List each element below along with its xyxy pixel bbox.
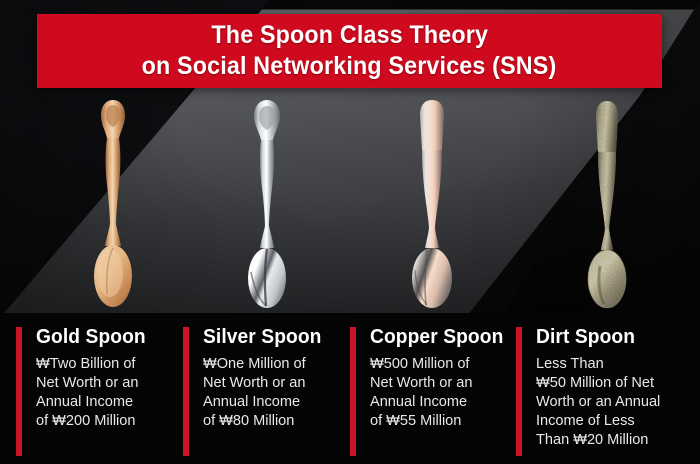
title-line-2: on Social Networking Services (SNS)	[142, 51, 557, 82]
class-card-title: Gold Spoon	[36, 325, 146, 349]
card-body: Dirt Spoon Less Than ₩50 Million of Net …	[536, 325, 664, 449]
class-card-list: Gold Spoon ₩Two Billion of Net Worth or …	[0, 313, 700, 464]
title-banner: The Spoon Class Theory on Social Network…	[37, 14, 662, 88]
accent-bar	[516, 327, 522, 456]
class-card-description: ₩Two Billion of Net Worth or an Annual I…	[36, 354, 147, 430]
class-card-copper-spoon: Copper Spoon ₩500 Million of Net Worth o…	[350, 327, 510, 457]
class-card-description: Less Than ₩50 Million of Net Worth or an…	[536, 354, 660, 449]
card-body: Silver Spoon ₩One Million of Net Worth o…	[203, 325, 326, 430]
class-card-description: ₩500 Million of Net Worth or an Annual I…	[370, 354, 505, 430]
class-card-dirt-spoon: Dirt Spoon Less Than ₩50 Million of Net …	[516, 327, 691, 457]
title-line-1: The Spoon Class Theory	[211, 20, 488, 51]
class-card-title: Copper Spoon	[370, 325, 503, 349]
accent-bar	[350, 327, 356, 456]
accent-bar	[16, 327, 22, 456]
class-card-description: ₩One Million of Net Worth or an Annual I…	[203, 354, 323, 430]
class-card-title: Silver Spoon	[203, 325, 322, 349]
copper-spoon-image	[403, 98, 461, 308]
spoon-class-theory-infographic: The Spoon Class Theory on Social Network…	[0, 0, 700, 464]
class-descriptions-panel: Gold Spoon ₩Two Billion of Net Worth or …	[0, 313, 700, 464]
dirt-spoon-image	[578, 98, 636, 308]
gold-spoon-image	[84, 98, 142, 308]
accent-bar	[183, 327, 189, 456]
class-card-gold-spoon: Gold Spoon ₩Two Billion of Net Worth or …	[16, 327, 176, 457]
class-card-title: Dirt Spoon	[536, 325, 659, 349]
card-body: Copper Spoon ₩500 Million of Net Worth o…	[370, 325, 509, 430]
silver-spoon-image	[238, 98, 296, 308]
card-body: Gold Spoon ₩Two Billion of Net Worth or …	[36, 325, 150, 430]
class-card-silver-spoon: Silver Spoon ₩One Million of Net Worth o…	[183, 327, 343, 457]
